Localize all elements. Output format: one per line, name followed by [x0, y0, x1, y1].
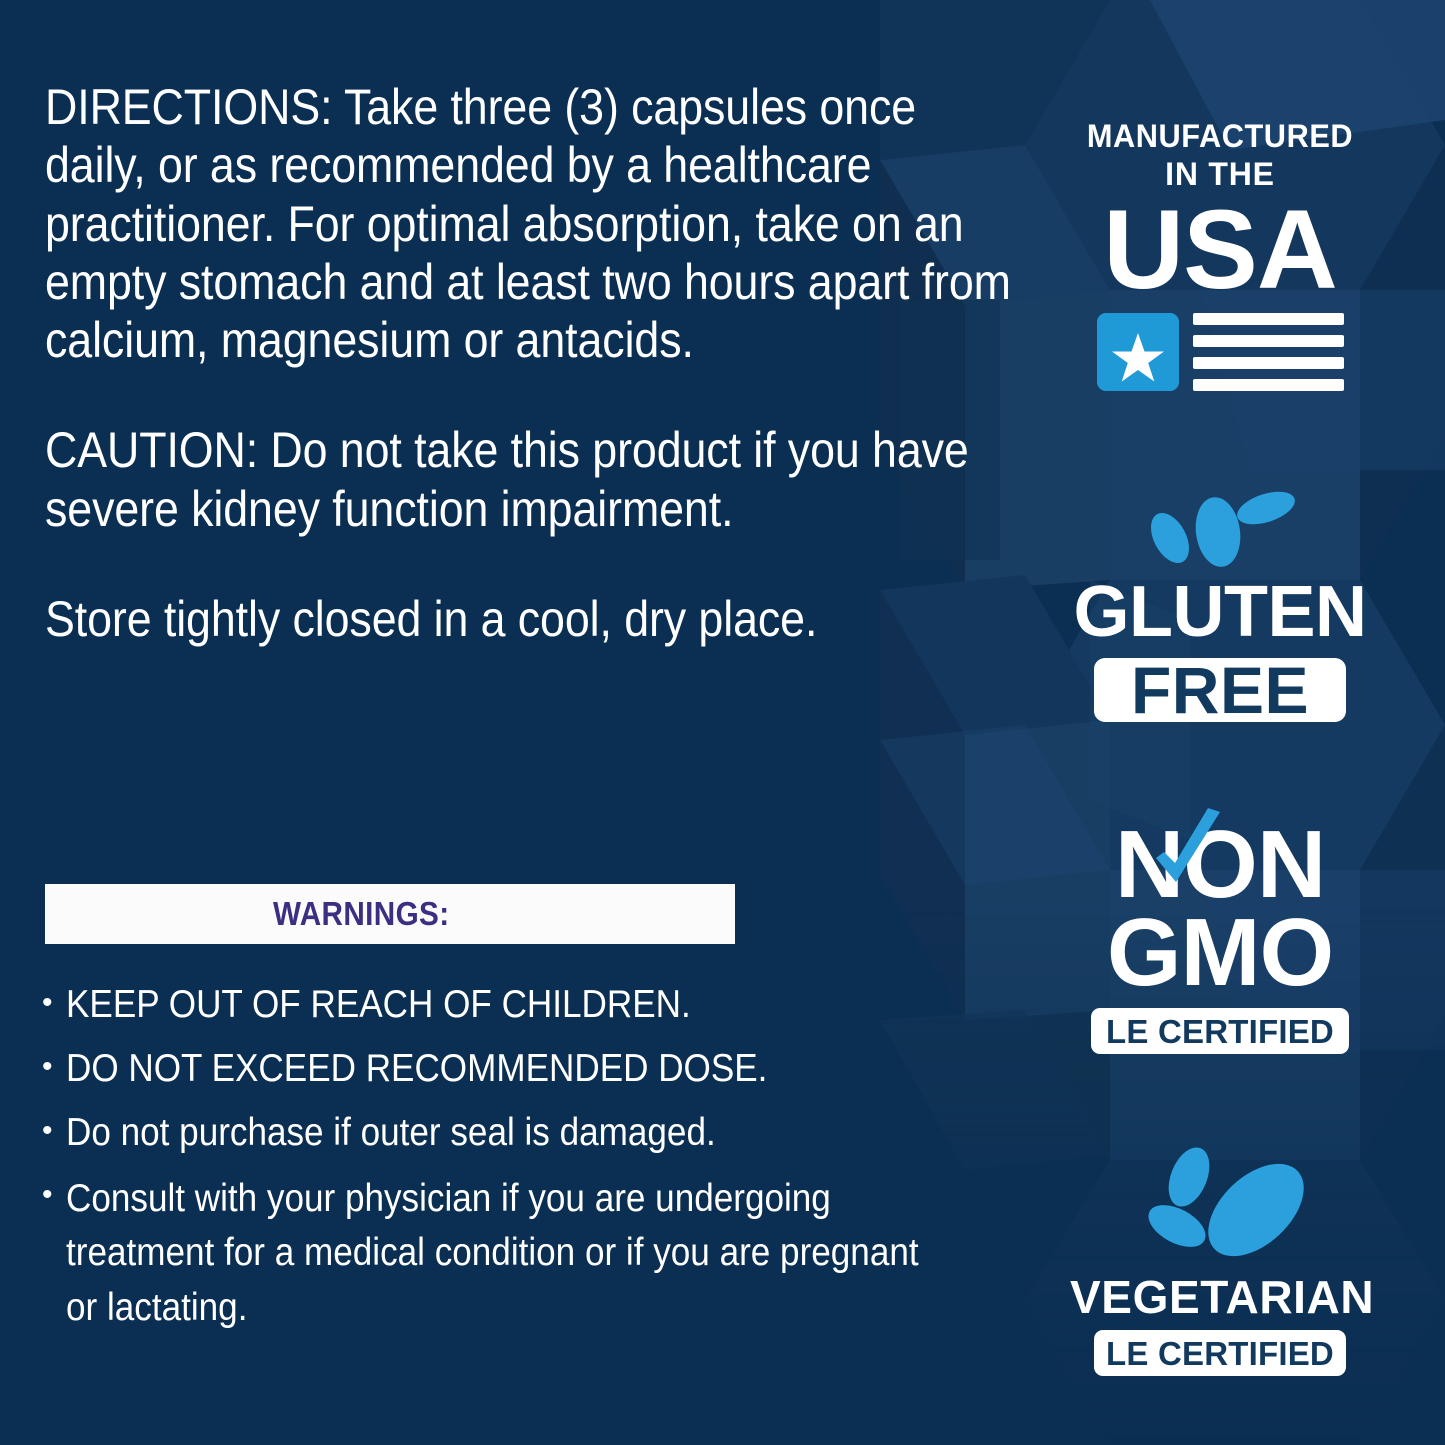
list-item-label: KEEP OUT OF REACH OF CHILDREN.	[66, 980, 944, 1030]
warnings-list: • KEEP OUT OF REACH OF CHILDREN. • DO NO…	[42, 980, 1042, 1338]
warnings-title: WARNINGS:	[273, 895, 449, 933]
badge-line-3: USA	[1070, 197, 1370, 303]
badge-line-2: LE CERTIFIED	[1106, 1337, 1334, 1370]
bullet-icon: •	[42, 1108, 66, 1158]
directions-paragraph: DIRECTIONS: Take three (3) capsules once…	[45, 78, 1021, 369]
warnings-header-bar: WARNINGS:	[45, 884, 735, 944]
leaf-sprout-icon	[1070, 1144, 1370, 1262]
vegetarian-certified-pill: LE CERTIFIED	[1094, 1330, 1346, 1376]
label-body-text: DIRECTIONS: Take three (3) capsules once…	[45, 78, 1020, 648]
list-item-label: DO NOT EXCEED RECOMMENDED DOSE.	[66, 1044, 944, 1094]
wheat-grain-icon	[1070, 486, 1370, 568]
gluten-free-pill: FREE	[1094, 658, 1346, 722]
list-item-label: Consult with your physician if you are u…	[66, 1172, 944, 1336]
badge-line-1: VEGETARIAN	[1070, 1274, 1370, 1320]
badge-non-gmo: NON GMO LE CERTIFIED	[1070, 818, 1370, 1074]
caution-paragraph: CAUTION: Do not take this product if you…	[45, 421, 1021, 538]
badge-line-3: LE CERTIFIED	[1106, 1015, 1334, 1048]
list-item-label: Do not purchase if outer seal is damaged…	[66, 1108, 944, 1158]
badge-gluten-free: GLUTEN FREE	[1070, 486, 1370, 732]
non-gmo-certified-pill: LE CERTIFIED	[1091, 1008, 1349, 1054]
list-item: • Consult with your physician if you are…	[42, 1172, 1042, 1336]
badge-vegetarian: VEGETARIAN LE CERTIFIED	[1070, 1144, 1370, 1394]
bullet-icon: •	[42, 1172, 66, 1336]
badge-line-1: GLUTEN	[1070, 576, 1370, 648]
badge-manufactured-in-usa: MANUFACTURED IN THE USA	[1070, 120, 1370, 400]
list-item: • DO NOT EXCEED RECOMMENDED DOSE.	[42, 1044, 1042, 1094]
badge-line-1: MANUFACTURED	[1076, 120, 1364, 152]
storage-paragraph: Store tightly closed in a cool, dry plac…	[45, 590, 1021, 648]
badge-line-2: GMO	[1070, 906, 1370, 1000]
checkmark-icon	[1148, 808, 1228, 900]
bullet-icon: •	[42, 1044, 66, 1094]
supplement-label-panel: DIRECTIONS: Take three (3) capsules once…	[0, 0, 1445, 1445]
list-item: • Do not purchase if outer seal is damag…	[42, 1108, 1042, 1158]
list-item: • KEEP OUT OF REACH OF CHILDREN.	[42, 980, 1042, 1030]
bullet-icon: •	[42, 980, 66, 1030]
badge-line-2: FREE	[1131, 657, 1309, 723]
usa-flag-icon	[1097, 313, 1344, 391]
certification-badge-column: MANUFACTURED IN THE USA	[1070, 120, 1370, 1394]
